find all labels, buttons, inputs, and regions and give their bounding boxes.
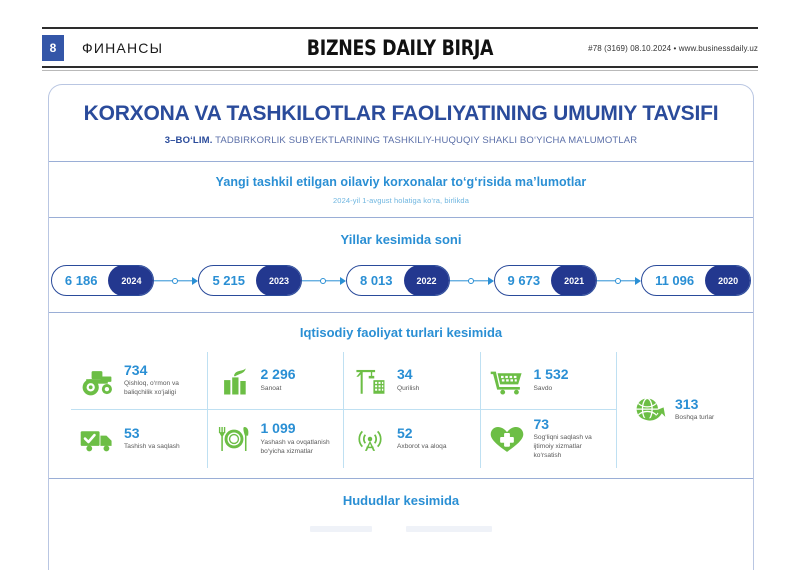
activity-card: 2 296Sanoat	[208, 352, 345, 410]
crane-icon	[352, 364, 388, 398]
activity-text: 52Axborot va aloqa	[397, 426, 447, 452]
activity-text: 1 532Savdo	[534, 367, 569, 393]
factory-icon	[216, 364, 252, 398]
activity-value: 734	[124, 363, 199, 378]
tractor-icon	[79, 364, 115, 398]
activity-text: 2 296Sanoat	[261, 367, 296, 393]
health-heart-icon	[489, 422, 525, 456]
year-value: 11 096	[642, 273, 705, 288]
regions-section-title: Hududlar kesimida	[49, 493, 753, 508]
activities-section: Iqtisodiy faoliyat turlari kesimida 734Q…	[49, 313, 753, 478]
regions-ghost-bar	[310, 526, 372, 532]
regions-ghost-bar	[406, 526, 492, 532]
years-section: Yillar kesimida soni 6 18620245 21520238…	[49, 218, 753, 312]
globe-arrow-icon	[631, 393, 667, 427]
dining-icon	[216, 422, 252, 456]
family-section-note: 2024-yil 1-avgust holatiga ko‘ra, birlik…	[49, 196, 753, 205]
activity-text: 34Qurilish	[397, 367, 419, 393]
activity-card: 34Qurilish	[344, 352, 481, 410]
years-row: 6 18620245 21520238 01320229 673202111 0…	[49, 265, 753, 296]
panel-title: KORXONA VA TASHKILOTLAR FAOLIYATINING UM…	[49, 102, 753, 126]
activity-text: 313Boshqa turlar	[675, 397, 714, 423]
family-section-title: Yangi tashkil etilgan oilaviy korxonalar…	[49, 175, 753, 189]
activity-card: 53Tashish va saqlash	[71, 410, 208, 468]
activity-card: 734Qishloq, o‘rmon va baliqchilik xo‘jal…	[71, 352, 208, 410]
family-enterprises-section: Yangi tashkil etilgan oilaviy korxonalar…	[49, 162, 753, 217]
year-pill: 5 2152023	[198, 265, 302, 296]
activity-label: Sog‘liqni saqlash va ijtimoiy xizmatlar …	[534, 434, 609, 461]
activity-label: Qurilish	[397, 385, 419, 394]
activity-value: 2 296	[261, 367, 296, 382]
activity-card: 73Sog‘liqni saqlash va ijtimoiy xizmatla…	[481, 410, 618, 468]
activity-card: 1 099Yashash va ovqatlanish bo‘yicha xiz…	[208, 410, 345, 468]
year-value: 6 186	[52, 273, 109, 288]
activity-label: Tashish va saqlash	[124, 443, 180, 452]
activity-value: 34	[397, 367, 419, 382]
issue-info: #78 (3169) 08.10.2024 • www.businessdail…	[588, 44, 758, 53]
activity-label: Sanoat	[261, 385, 296, 394]
activity-value: 52	[397, 426, 447, 441]
years-section-title: Yillar kesimida soni	[49, 232, 753, 247]
year-label: 2020	[705, 265, 751, 296]
year-pill: 8 0132022	[346, 265, 450, 296]
shopping-cart-icon	[489, 364, 525, 398]
year-pill: 11 0962020	[641, 265, 751, 296]
activities-wrap: 734Qishloq, o‘rmon va baliqchilik xo‘jal…	[49, 352, 753, 468]
activity-text: 53Tashish va saqlash	[124, 426, 180, 452]
activities-grid: 734Qishloq, o‘rmon va baliqchilik xo‘jal…	[71, 352, 617, 468]
activity-card: 52Axborot va aloqa	[344, 410, 481, 468]
activity-text: 73Sog‘liqni saqlash va ijtimoiy xizmatla…	[534, 417, 609, 461]
year-label: 2024	[108, 265, 154, 296]
activity-label: Qishloq, o‘rmon va baliqchilik xo‘jaligi	[124, 380, 199, 398]
activity-card: 1 532Savdo	[481, 352, 618, 410]
page-number-badge: 8	[42, 35, 64, 61]
regions-section: Hududlar kesimida	[49, 479, 753, 532]
activity-value: 73	[534, 417, 609, 432]
activity-value: 53	[124, 426, 180, 441]
activity-label: Savdo	[534, 385, 569, 394]
activity-value: 313	[675, 397, 714, 412]
activity-other-card: 313Boshqa turlar	[617, 352, 735, 468]
panel-subtitle-strong: 3–BO‘LIM.	[165, 135, 213, 146]
year-label: 2022	[404, 265, 450, 296]
infographic-panel: KORXONA VA TASHKILOTLAR FAOLIYATINING UM…	[48, 84, 754, 570]
activity-text: 734Qishloq, o‘rmon va baliqchilik xo‘jal…	[124, 363, 199, 398]
regions-placeholder	[49, 526, 753, 532]
masthead-rule-bottom	[42, 66, 758, 68]
year-connector-arrow-icon	[597, 276, 641, 286]
activity-label: Boshqa turlar	[675, 414, 714, 423]
year-value: 8 013	[347, 273, 404, 288]
truck-icon	[79, 422, 115, 456]
masthead-rule-hairline	[42, 70, 758, 71]
year-connector-arrow-icon	[450, 276, 494, 286]
year-label: 2021	[551, 265, 597, 296]
year-pill: 9 6732021	[494, 265, 598, 296]
panel-subtitle: 3–BO‘LIM. TADBIRKORLIK SUBYEKTLARINING T…	[49, 135, 753, 146]
year-label: 2023	[256, 265, 302, 296]
infographic-page: 8 ФИНАНСЫ BIZNES DAILY BIRJA #78 (3169) …	[0, 0, 800, 570]
year-value: 9 673	[495, 273, 552, 288]
antenna-icon	[352, 422, 388, 456]
year-value: 5 215	[199, 273, 256, 288]
activity-label: Yashash va ovqatlanish bo‘yicha xizmatla…	[261, 439, 336, 457]
year-connector-arrow-icon	[302, 276, 346, 286]
masthead: 8 ФИНАНСЫ BIZNES DAILY BIRJA #78 (3169) …	[42, 28, 758, 68]
year-pill: 6 1862024	[51, 265, 155, 296]
activity-value: 1 532	[534, 367, 569, 382]
year-connector-arrow-icon	[154, 276, 198, 286]
activities-section-title: Iqtisodiy faoliyat turlari kesimida	[49, 325, 753, 340]
activity-other-content: 313Boshqa turlar	[631, 393, 714, 427]
panel-subtitle-rest: TADBIRKORLIK SUBYEKTLARINING TASHKILIY-H…	[215, 135, 637, 146]
activity-label: Axborot va aloqa	[397, 443, 447, 452]
activity-value: 1 099	[261, 421, 336, 436]
activity-text: 1 099Yashash va ovqatlanish bo‘yicha xiz…	[261, 421, 336, 456]
